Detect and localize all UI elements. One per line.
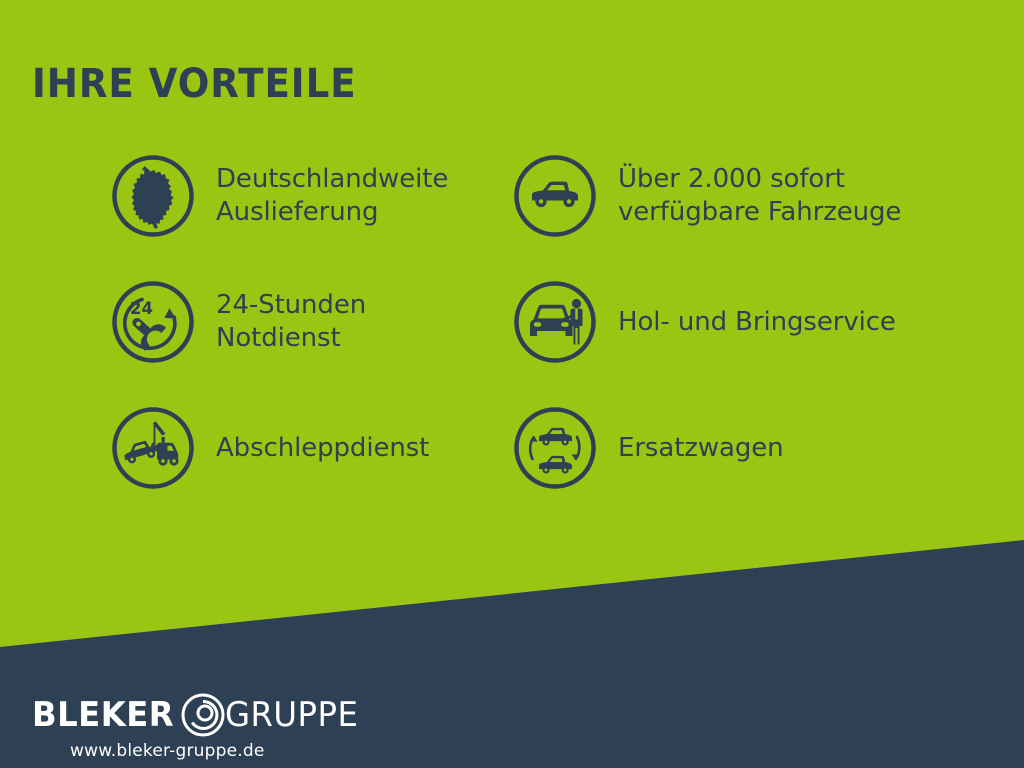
benefits-grid: Deutschlandweite Auslieferung Über 2.000… — [0, 155, 1024, 533]
benefit-item-ersatzwagen[interactable]: Ersatzwagen — [514, 407, 784, 489]
spiral-circle-logo-icon — [179, 691, 227, 739]
benefit-item-deutschlandweite-auslieferung[interactable]: Deutschlandweite Auslieferung — [112, 155, 448, 237]
benefit-label: Hol- und Bringservice — [618, 306, 896, 339]
benefit-label: Über 2.000 sofort verfügbare Fahrzeuge — [618, 163, 901, 229]
company-logo[interactable]: BLEKER GRUPPE www.bleker-gruppe.de — [32, 693, 365, 761]
benefit-item-24-stunden-notdienst[interactable]: 24 24-Stunden Notdienst — [112, 281, 366, 363]
benefit-item-hol-und-bringservice[interactable]: Hol- und Bringservice — [514, 281, 896, 363]
benefit-row: 24 24-Stunden Notdienst — [0, 281, 1024, 407]
hours-24-label: 24 — [130, 299, 153, 318]
logo-wordmark: BLEKER GRUPPE — [32, 693, 365, 737]
benefit-label: 24-Stunden Notdienst — [216, 289, 366, 355]
benefit-item-abschleppdienst[interactable]: Abschleppdienst — [112, 407, 429, 489]
car-with-person-icon — [514, 281, 596, 363]
benefit-row: Abschleppdienst — [0, 407, 1024, 533]
logo-name-light: GRUPPE — [225, 698, 358, 732]
logo-name-bold: BLEKER — [32, 698, 174, 732]
tow-truck-icon — [112, 407, 194, 489]
logo-website-url[interactable]: www.bleker-gruppe.de — [70, 741, 365, 761]
benefit-label: Deutschlandweite Auslieferung — [216, 163, 448, 229]
clock-wrench-24h-icon: 24 — [112, 281, 194, 363]
car-side-icon — [514, 155, 596, 237]
two-cars-exchange-icon — [514, 407, 596, 489]
benefit-row: Deutschlandweite Auslieferung Über 2.000… — [0, 155, 1024, 281]
germany-map-icon — [112, 155, 194, 237]
benefit-label: Abschleppdienst — [216, 432, 429, 465]
page-title: IHRE VORTEILE — [32, 63, 357, 105]
benefit-item-verfuegbare-fahrzeuge[interactable]: Über 2.000 sofort verfügbare Fahrzeuge — [514, 155, 901, 237]
slide-canvas: IHRE VORTEILE Deutschlandweite Ausliefer… — [0, 0, 1024, 768]
benefit-label: Ersatzwagen — [618, 432, 784, 465]
